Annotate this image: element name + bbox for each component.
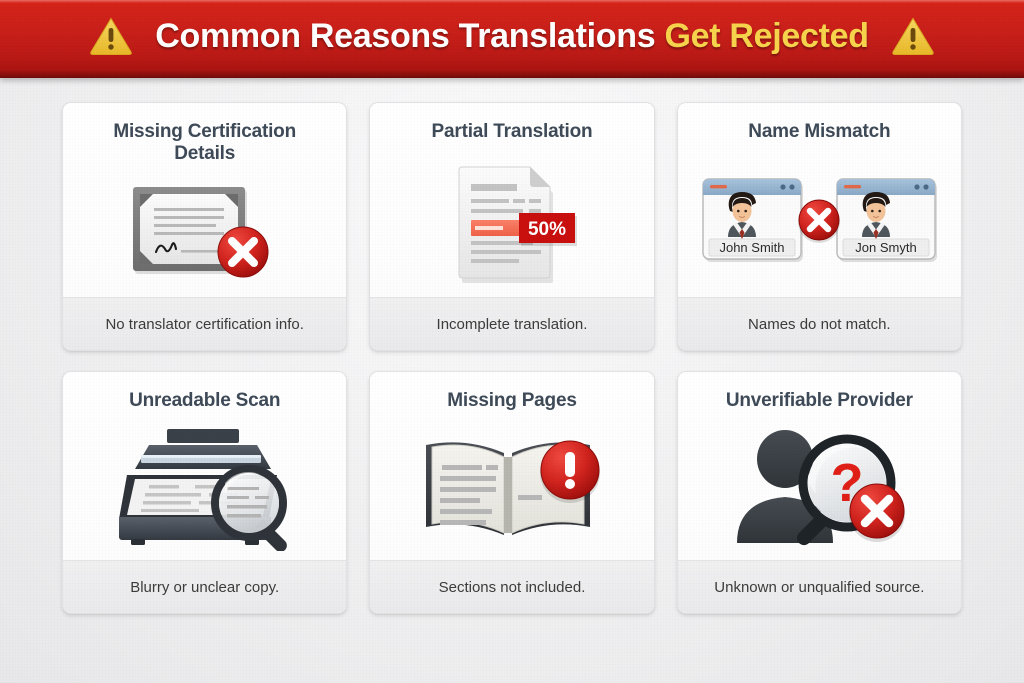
- card-partial-translation[interactable]: Partial Translation: [369, 102, 654, 351]
- card-unreadable-scan[interactable]: Unreadable Scan: [62, 371, 347, 614]
- card-body: Unverifiable Provider ?: [678, 372, 961, 560]
- document-with-progress-bar-icon: 50%: [384, 149, 639, 293]
- card-body: Missing Pages: [370, 372, 653, 560]
- card-body: Partial Translation: [370, 103, 653, 297]
- card-unverifiable-provider[interactable]: Unverifiable Provider ?: [677, 371, 962, 614]
- header-banner: Common Reasons Translations Get Rejected: [0, 0, 1024, 78]
- page-title: Common Reasons Translations Get Rejected: [155, 19, 869, 53]
- card-name-mismatch[interactable]: Name Mismatch: [677, 102, 962, 351]
- profile-name-right: Jon Smyth: [856, 240, 917, 255]
- card-caption: Unknown or unqualified source.: [678, 560, 961, 613]
- warning-triangle-icon-left: [89, 16, 133, 56]
- card-body: Missing Certification Details: [63, 103, 346, 297]
- card-title: Name Mismatch: [748, 121, 890, 143]
- card-title: Partial Translation: [432, 121, 593, 143]
- open-book-icon: [384, 418, 639, 556]
- profile-name-left: John Smith: [720, 240, 785, 255]
- card-title: Missing Pages: [447, 390, 576, 412]
- card-body: Unreadable Scan: [63, 372, 346, 560]
- card-caption: Names do not match.: [678, 297, 961, 350]
- card-title: Unreadable Scan: [129, 390, 280, 412]
- card-caption: No translator certification info.: [63, 297, 346, 350]
- card-body: Name Mismatch: [678, 103, 961, 297]
- card-missing-pages[interactable]: Missing Pages: [369, 371, 654, 614]
- card-title: Missing Certification Details: [90, 121, 320, 164]
- card-missing-certification-details[interactable]: Missing Certification Details: [62, 102, 347, 351]
- card-caption: Incomplete translation.: [370, 297, 653, 350]
- card-caption: Blurry or unclear copy.: [63, 560, 346, 613]
- card-caption: Sections not included.: [370, 560, 653, 613]
- card-title: Unverifiable Provider: [726, 390, 913, 412]
- two-profile-windows-icon: John Smith: [692, 149, 947, 293]
- certificate-with-error-badge-icon: [77, 170, 332, 293]
- cards-grid-row-2: Unreadable Scan: [0, 351, 1024, 614]
- cards-grid-row-1: Missing Certification Details: [0, 78, 1024, 351]
- scanner-with-magnifier-icon: [77, 418, 332, 556]
- progress-label: 50%: [528, 219, 566, 240]
- person-magnifier-question-icon: ?: [692, 418, 947, 556]
- warning-triangle-icon-right: [891, 16, 935, 56]
- page-title-main: Common Reasons Translations: [155, 17, 664, 55]
- page-title-accent: Get Rejected: [665, 17, 869, 55]
